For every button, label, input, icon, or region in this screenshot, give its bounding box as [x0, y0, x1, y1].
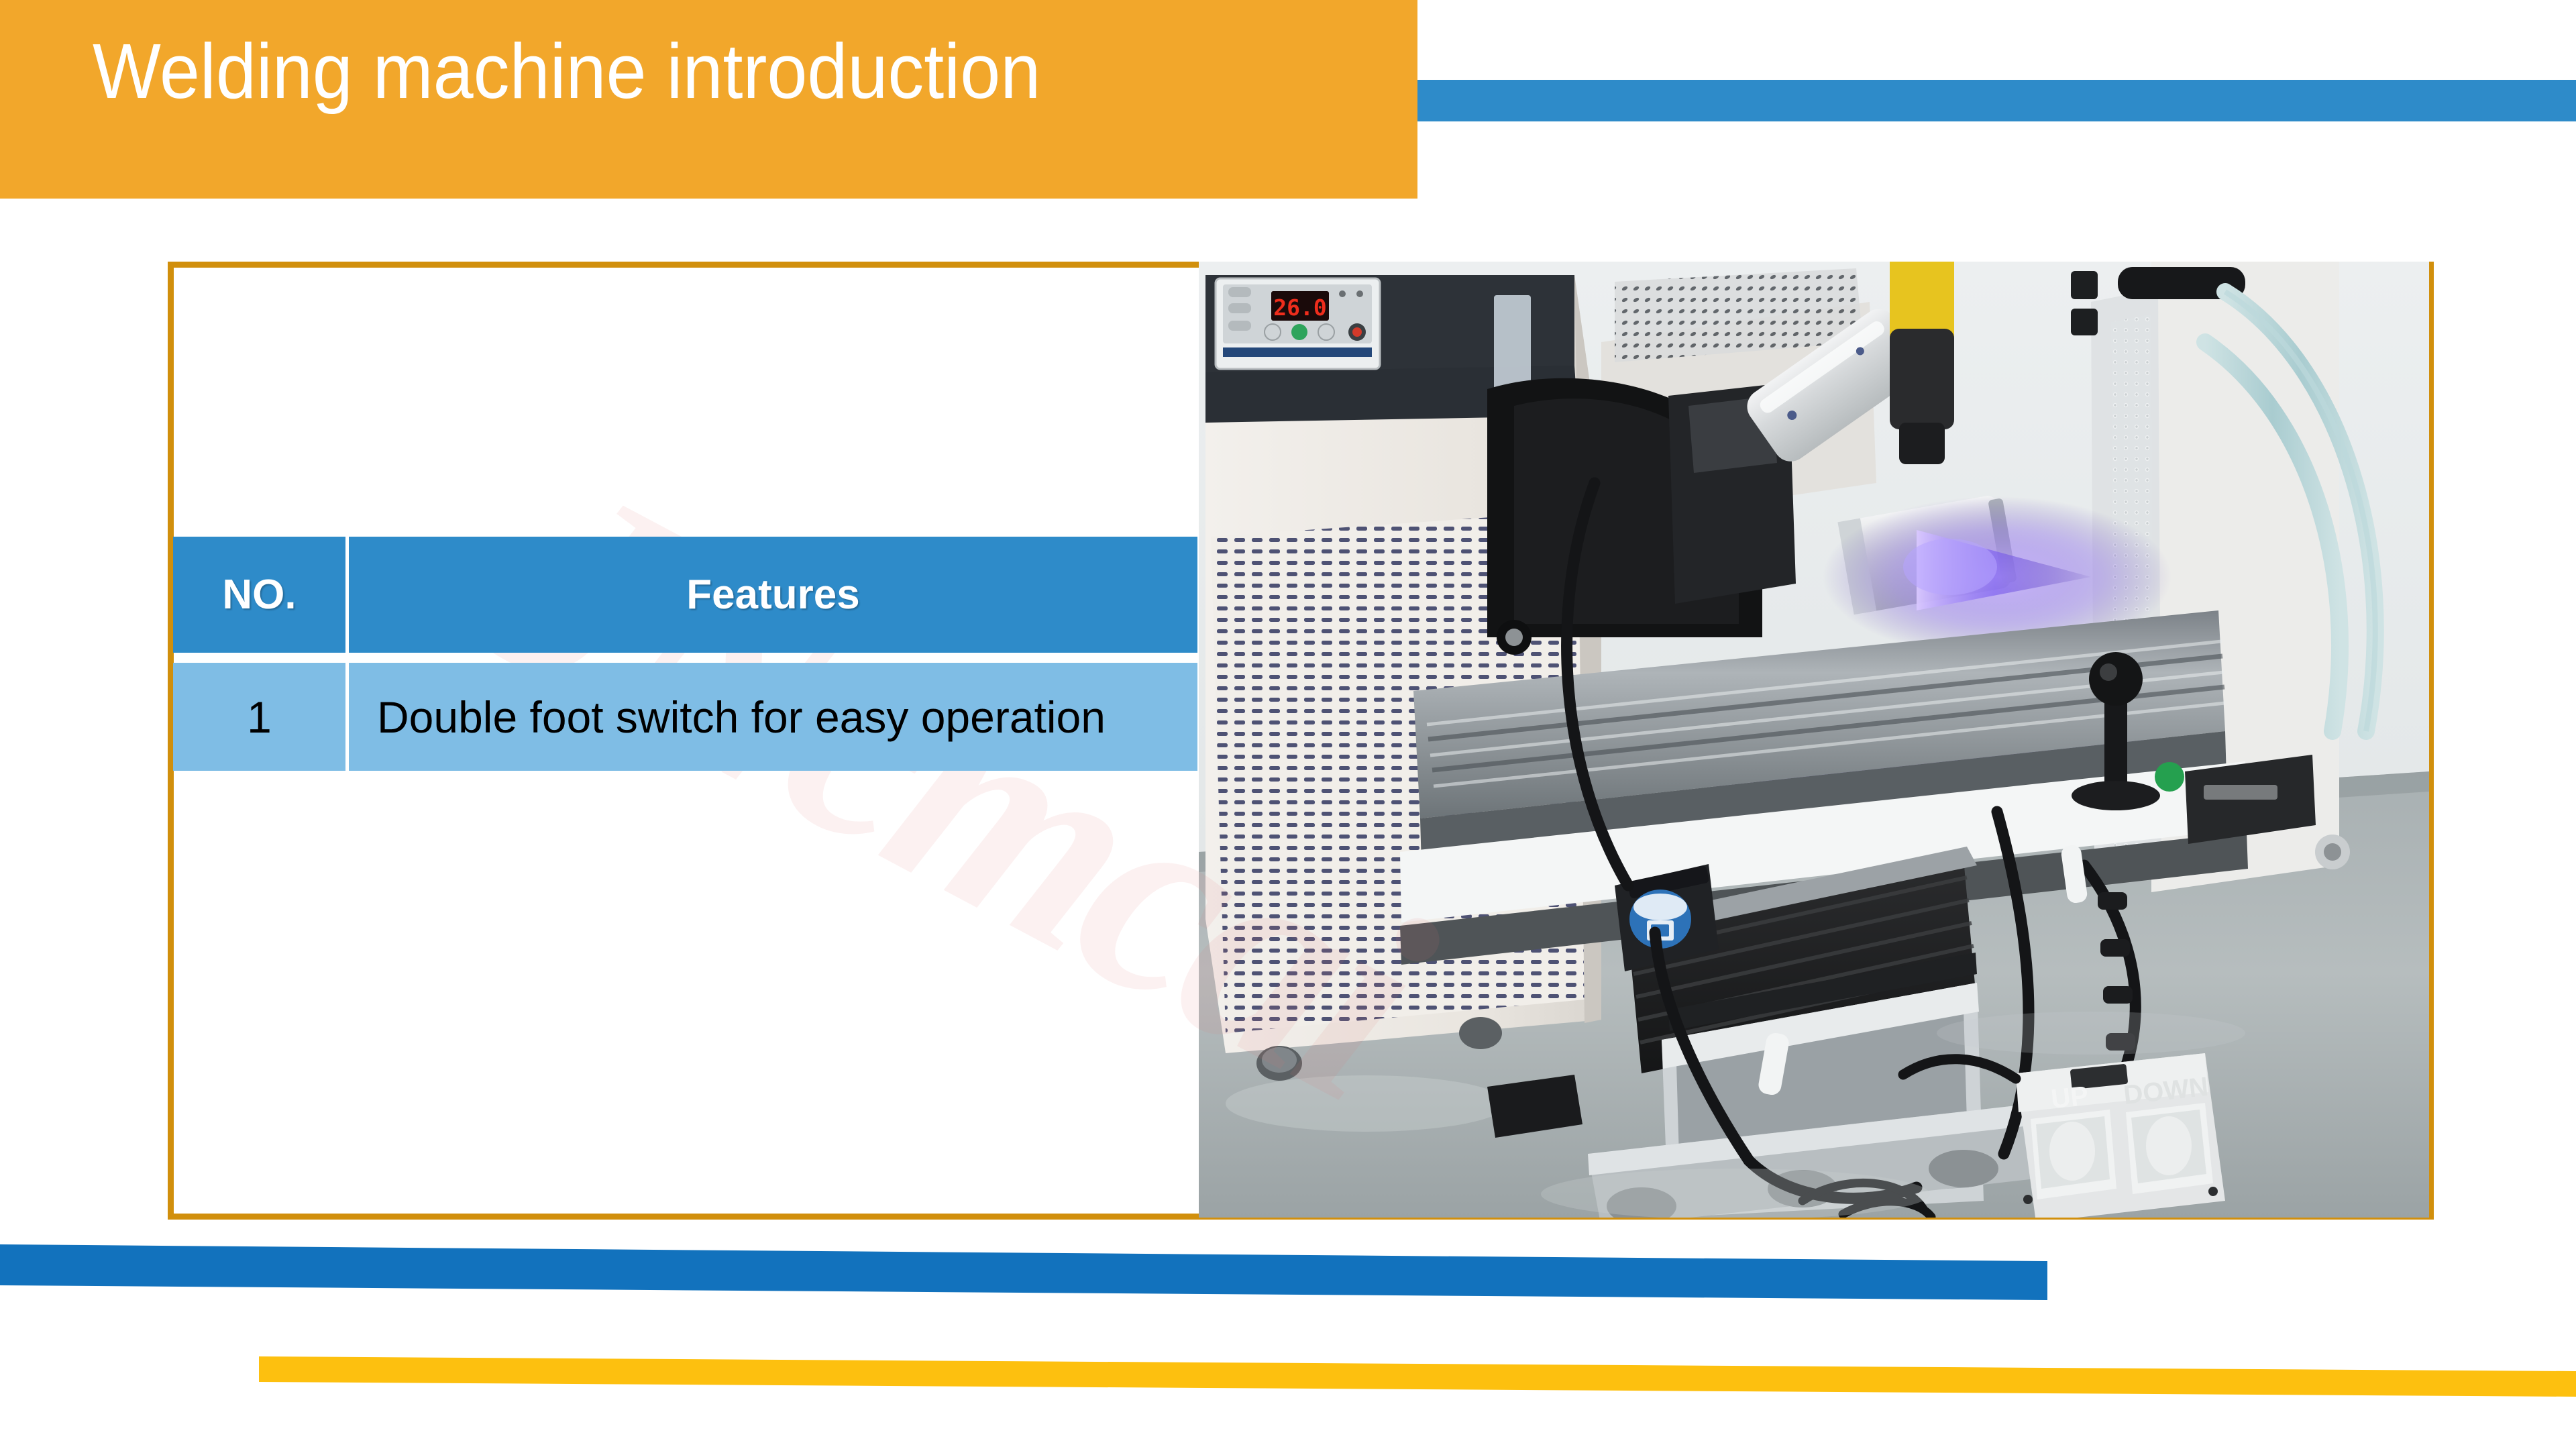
table-header-features: Features	[349, 537, 1197, 653]
table-cell-no-value: 1	[247, 692, 272, 743]
table-cell-no: 1	[173, 663, 345, 771]
machine-photo: 26.0	[1199, 262, 2429, 1218]
footer-bar-yellow	[259, 1356, 2576, 1397]
footer-bar-blue	[0, 1244, 2047, 1300]
table-header-row: NO. Features	[173, 537, 1197, 653]
table-cell-feature-value: Double foot switch for easy operation	[377, 692, 1106, 743]
foot-switch-label-up: UP	[2049, 1081, 2090, 1114]
table-header-no: NO.	[173, 537, 345, 653]
slide: Welding machine introduction	[0, 0, 2576, 1449]
table-header-no-label: NO.	[222, 571, 296, 619]
header-accent-bar	[1417, 80, 2576, 121]
table-header-features-label: Features	[686, 571, 859, 619]
table-cell-feature: Double foot switch for easy operation	[349, 663, 1197, 771]
chiller-display-value: 26.0	[1273, 294, 1326, 321]
table-row: 1 Double foot switch for easy operation	[173, 663, 1197, 771]
title-block: Welding machine introduction	[0, 0, 1417, 199]
page-title: Welding machine introduction	[93, 32, 1040, 110]
features-table: NO. Features 1 Double foot switch for ea…	[173, 537, 1197, 771]
machine-photo-illustration: 26.0	[1199, 262, 2429, 1218]
